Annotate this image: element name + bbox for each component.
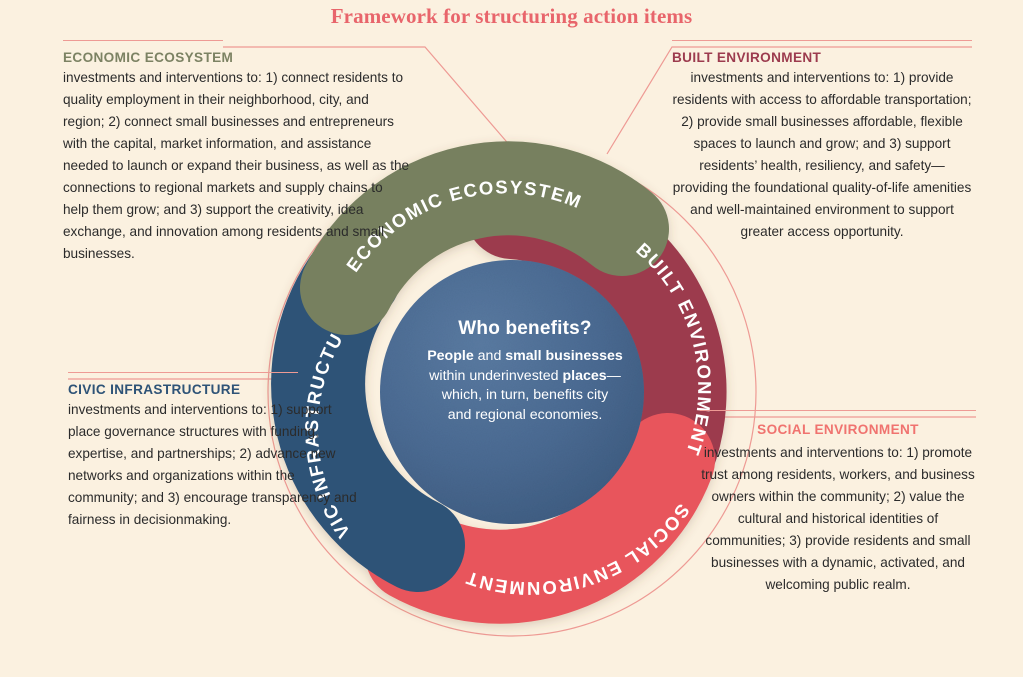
rule-built-environment [672, 40, 972, 41]
block-civic-infrastructure: CIVIC INFRASTRUCTURE investments and int… [68, 372, 358, 531]
page-title: Framework for structuring action items [0, 4, 1023, 29]
body-built-environment: investments and interventions to: 1) pro… [672, 67, 972, 243]
center-bold-small-businesses: small businesses [505, 348, 623, 364]
ring-label-social-environment: SOCIAL ENVIRONMENT [462, 500, 694, 599]
center-text-within: within underinvested [429, 368, 562, 384]
heading-social-environment: SOCIAL ENVIRONMENT [700, 420, 976, 440]
center-text-dash: — [607, 368, 621, 384]
ring-segment-social-environment[interactable] [412, 460, 668, 577]
center-body: People and small businesses within under… [406, 347, 644, 425]
body-social-environment: investments and interventions to: 1) pro… [700, 442, 976, 596]
rule-social-environment [700, 410, 976, 411]
heading-civic-infrastructure: CIVIC INFRASTRUCTURE [68, 382, 358, 397]
center-text-and: and [474, 348, 506, 364]
block-economic-ecosystem: ECONOMIC ECOSYSTEM investments and inter… [63, 40, 411, 265]
heading-economic-ecosystem: ECONOMIC ECOSYSTEM [63, 50, 411, 65]
block-social-environment: SOCIAL ENVIRONMENT investments and inter… [700, 410, 976, 596]
center-question: Who benefits? [406, 318, 644, 340]
rule-economic-ecosystem [63, 40, 223, 41]
center-bold-people: People [427, 348, 474, 364]
body-economic-ecosystem: investments and interventions to: 1) con… [63, 67, 411, 265]
diagram-canvas: Framework for structuring action items [0, 0, 1023, 677]
center-bold-places: places [562, 368, 606, 384]
center-message: Who benefits? People and small businesse… [406, 318, 644, 425]
body-civic-infrastructure: investments and interventions to: 1) sup… [68, 399, 358, 531]
heading-built-environment: BUILT ENVIRONMENT [672, 50, 972, 65]
center-text-line3: which, in turn, benefits city [442, 387, 608, 403]
block-built-environment: BUILT ENVIRONMENT investments and interv… [672, 40, 972, 243]
center-text-line4: and regional economies. [448, 407, 603, 423]
rule-civic-infrastructure [68, 372, 298, 373]
